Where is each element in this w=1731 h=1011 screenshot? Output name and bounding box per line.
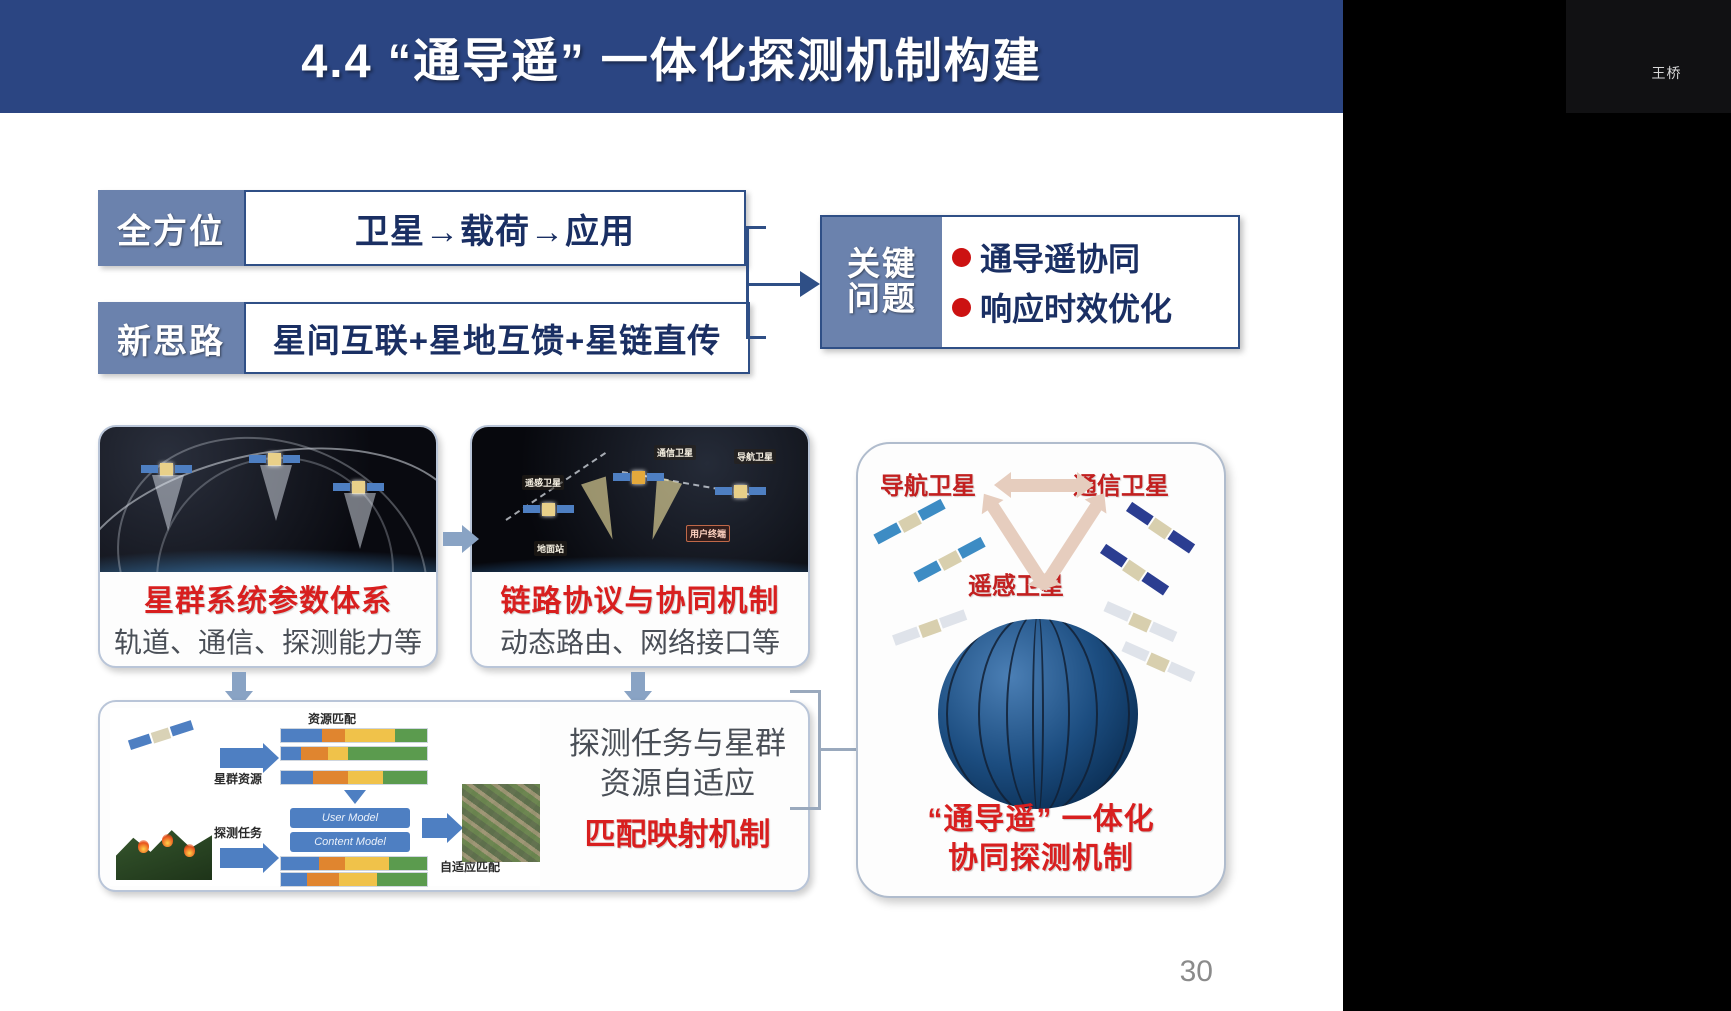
- arrow-bidirectional-icon: [1010, 479, 1078, 492]
- task-bar: [280, 856, 428, 871]
- satellite-icon: [151, 727, 172, 743]
- matching-text-red: 匹配映射机制: [555, 809, 800, 854]
- key-problem-item-label: 通导遥协同: [980, 234, 1140, 280]
- resource-bar: [280, 728, 428, 743]
- image-label-ground-station: 地面站: [534, 541, 567, 556]
- matching-text-line1: 探测任务与星群: [555, 724, 800, 764]
- satellite-icon: [632, 471, 645, 484]
- slide-header-band: 4.4 “通导遥” 一体化探测机制构建: [0, 0, 1343, 113]
- satellite-image-thumbnail: [462, 784, 540, 862]
- resource-bar: [280, 770, 428, 785]
- matching-text-line2: 资源自适应: [555, 764, 800, 804]
- screen-root: 王桥 4.4 “通导遥” 一体化探测机制构建 全方位 卫星→载荷→应用 新思路 …: [0, 0, 1731, 1011]
- communication-satellite-icon: [1122, 560, 1146, 582]
- list-item: 响应时效优化: [952, 284, 1238, 330]
- card-link-protocol: 遥感卫星 通信卫星 导航卫星 地面站 用户终端 链路协议与协同机制 动态路由、网…: [470, 425, 810, 668]
- remote-sensing-satellite-icon: [1146, 652, 1170, 672]
- fire-icon: [138, 840, 149, 853]
- bullet-dot-icon: [952, 248, 971, 267]
- remote-sensing-satellite-icon: [918, 619, 941, 638]
- meridian-line: [1032, 619, 1044, 809]
- card-caption-main: 链路协议与协同机制: [478, 576, 802, 620]
- link-protocol-illustration: 遥感卫星 通信卫星 导航卫星 地面站 用户终端: [472, 427, 808, 572]
- satellite-icon: [734, 485, 747, 498]
- arrow-right-icon: [422, 818, 448, 838]
- card-constellation-parameters: 星群系统参数体系 轨道、通信、探测能力等: [98, 425, 438, 668]
- flow-row-tag: 全方位: [98, 190, 244, 266]
- satellite-icon: [542, 503, 555, 516]
- presenter-name-label: 王桥: [1652, 63, 1682, 83]
- flow-row-new-idea: 新思路 星间互联+星地互馈+星链直传: [98, 302, 750, 374]
- card-adaptive-matching: 星群资源 探测任务 资源匹配 任务映射 自适应匹配 ······ User Mo…: [98, 700, 810, 892]
- resource-bar: [280, 746, 428, 761]
- key-problem-tag: 关键 问题: [822, 217, 942, 347]
- page-title: 4.4 “通导遥” 一体化探测机制构建: [301, 22, 1041, 91]
- arrow-bidirectional-icon: [1044, 502, 1102, 581]
- image-label-communication-satellite: 通信卫星: [654, 445, 696, 460]
- page-number-label: 30: [1180, 955, 1213, 989]
- card-caption-sub: 轨道、通信、探测能力等: [106, 621, 430, 661]
- arrow-right-icon: [220, 848, 264, 868]
- task-bar: [280, 872, 428, 887]
- image-label-user-terminal: 用户终端: [686, 525, 730, 542]
- fire-icon: [162, 834, 173, 847]
- user-model-box: User Model: [290, 808, 410, 828]
- arrow-right-icon: [443, 532, 463, 546]
- communication-satellite-icon: [1148, 518, 1172, 540]
- bullet-dot-icon: [952, 298, 971, 317]
- card-caption: 星群系统参数体系 轨道、通信、探测能力等: [100, 572, 436, 668]
- key-problem-item-label: 响应时效优化: [980, 284, 1172, 330]
- earth-globe-graphic: [938, 619, 1138, 809]
- panel-integrated-mechanism: 导航卫星 通信卫星 遥感卫星 “通导遥” 一体化 协同探测机制: [856, 442, 1226, 898]
- connector-line: [746, 336, 766, 339]
- card-caption-sub: 动态路由、网络接口等: [478, 621, 802, 661]
- signal-beam-icon: [344, 493, 376, 549]
- panel-bottom-line2: 协同探测机制: [858, 839, 1224, 878]
- card-caption: 链路协议与协同机制 动态路由、网络接口等: [472, 572, 808, 668]
- panel-label-navigation-satellite: 导航卫星: [880, 466, 976, 501]
- arrow-down-icon: [232, 672, 246, 692]
- terrain-icon: [116, 816, 212, 880]
- signal-cone-icon: [581, 477, 625, 544]
- arrow-down-icon: [631, 672, 645, 692]
- presenter-webcam-tile[interactable]: 王桥: [1566, 0, 1731, 113]
- matching-diagram: 星群资源 探测任务 资源匹配 任务映射 自适应匹配 ······ User Mo…: [110, 708, 540, 886]
- key-problem-tag-line1: 关键: [847, 247, 917, 282]
- diagram-label-detection-task: 探测任务: [214, 824, 262, 841]
- bracket-line: [790, 690, 820, 693]
- diagram-label-resource-match: 资源匹配: [308, 710, 356, 727]
- flow-row-body: 星间互联+星地互馈+星链直传: [244, 302, 750, 374]
- bracket-line: [790, 807, 820, 810]
- fire-icon: [184, 844, 195, 857]
- remote-sensing-satellite-icon: [1128, 612, 1152, 632]
- connector-line: [746, 226, 766, 229]
- diagram-label-constellation-resource: 星群资源: [214, 770, 262, 787]
- image-label-remote-sensing-satellite: 遥感卫星: [522, 475, 564, 490]
- signal-cone-icon: [640, 477, 682, 544]
- key-problem-list: 通导遥协同 响应时效优化: [942, 217, 1238, 347]
- signal-beam-icon: [260, 465, 292, 521]
- arrow-right-icon: [800, 271, 820, 297]
- bracket-line: [818, 748, 856, 751]
- arrow-right-icon: [220, 748, 264, 768]
- constellation-illustration: [100, 427, 436, 572]
- navigation-satellite-icon: [898, 512, 922, 533]
- panel-bottom-line1: “通导遥” 一体化: [858, 800, 1224, 839]
- arrow-down-icon: [344, 790, 366, 804]
- flow-row-comprehensive: 全方位 卫星→载荷→应用: [98, 190, 746, 266]
- key-problem-box: 关键 问题 通导遥协同 响应时效优化: [820, 215, 1240, 349]
- matching-card-text: 探测任务与星群 资源自适应 匹配映射机制: [555, 724, 800, 854]
- content-model-box: Content Model: [290, 832, 410, 852]
- signal-beam-icon: [152, 475, 184, 531]
- key-problem-tag-line2: 问题: [847, 282, 917, 317]
- flow-row-body: 卫星→载荷→应用: [244, 190, 746, 266]
- list-item: 通导遥协同: [952, 234, 1238, 280]
- connector-line: [746, 226, 749, 338]
- slide-canvas: 4.4 “通导遥” 一体化探测机制构建 全方位 卫星→载荷→应用 新思路 星间互…: [0, 0, 1343, 1011]
- flow-row-tag: 新思路: [98, 302, 244, 374]
- navigation-satellite-icon: [938, 550, 962, 571]
- card-caption-main: 星群系统参数体系: [106, 576, 430, 620]
- connector-line: [746, 283, 804, 286]
- panel-bottom-caption: “通导遥” 一体化 协同探测机制: [858, 800, 1224, 878]
- image-label-navigation-satellite: 导航卫星: [734, 449, 776, 464]
